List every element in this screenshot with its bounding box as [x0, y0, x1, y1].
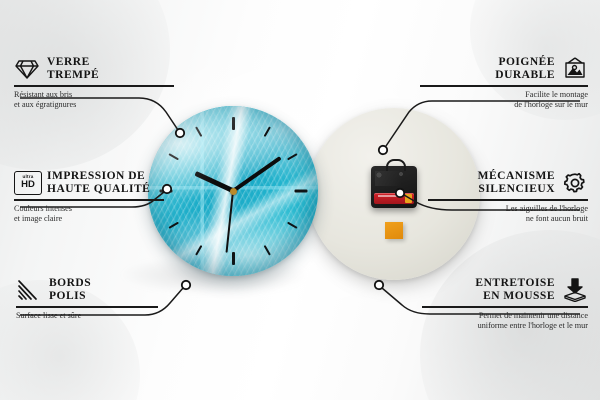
connector-dot-verre — [176, 129, 184, 137]
feature-bords-polis: BORDS POLIS Surface lisse et sûre — [16, 277, 158, 321]
feature-divider — [14, 199, 164, 201]
connector-dot-poignee — [379, 146, 387, 154]
diamond-icon — [14, 57, 40, 81]
feature-description: Résistant aux bris et aux égratignures — [14, 90, 174, 110]
feature-header: POIGNÉE DURABLE — [420, 56, 588, 81]
feature-divider — [14, 85, 174, 87]
foam-spacer-icon — [562, 278, 588, 302]
feature-entretoise-en-mousse: ENTRETOISE EN MOUSSE Permet de maintenir… — [422, 277, 588, 331]
feature-description: Couleurs intenses et image claire — [14, 204, 164, 224]
gear-icon — [562, 171, 588, 195]
feature-impression-haute-qualite: ultra HD IMPRESSION DE HAUTE QUALITÉ Cou… — [14, 170, 164, 224]
feature-header: ultra HD IMPRESSION DE HAUTE QUALITÉ — [14, 170, 164, 195]
connector-dot-entretoise — [375, 281, 383, 289]
feature-verre-trempe: VERRE TREMPÉ Résistant aux bris et aux é… — [14, 56, 174, 110]
connector-dot-mecanisme — [396, 189, 404, 197]
ultra-hd-main-label: HD — [21, 180, 35, 190]
feature-title: MÉCANISME SILENCIEUX — [478, 170, 555, 195]
feature-header: ENTRETOISE EN MOUSSE — [422, 277, 588, 302]
feature-header: MÉCANISME SILENCIEUX — [428, 170, 588, 195]
feature-mecanisme-silencieux: MÉCANISME SILENCIEUX Les aiguilles de l'… — [428, 170, 588, 224]
feature-title: VERRE TREMPÉ — [47, 56, 99, 81]
hanging-frame-icon — [562, 57, 588, 81]
feature-title: IMPRESSION DE HAUTE QUALITÉ — [47, 170, 150, 195]
connector-dot-impression — [163, 185, 171, 193]
feature-poignee-durable: POIGNÉE DURABLE Facilite le montage de l… — [420, 56, 588, 110]
feature-description: Facilite le montage de l'horloge sur le … — [420, 90, 588, 110]
feature-header: VERRE TREMPÉ — [14, 56, 174, 81]
feature-divider — [16, 306, 158, 308]
feature-title: ENTRETOISE EN MOUSSE — [475, 277, 555, 302]
feature-divider — [428, 199, 588, 201]
feature-header: BORDS POLIS — [16, 277, 158, 302]
feature-divider — [420, 85, 588, 87]
feature-divider — [422, 306, 588, 308]
feature-description: Les aiguilles de l'horloge ne font aucun… — [428, 204, 588, 224]
feature-title: POIGNÉE DURABLE — [495, 56, 555, 81]
ultra-hd-icon: ultra HD — [14, 171, 40, 195]
connector-dot-bords — [182, 281, 190, 289]
feature-description: Surface lisse et sûre — [16, 311, 158, 321]
feature-description: Permet de maintenir une distance uniform… — [422, 311, 588, 331]
infographic-canvas: VERRE TREMPÉ Résistant aux bris et aux é… — [0, 0, 600, 400]
feature-title: BORDS POLIS — [49, 277, 91, 302]
polished-edges-icon — [16, 278, 42, 302]
